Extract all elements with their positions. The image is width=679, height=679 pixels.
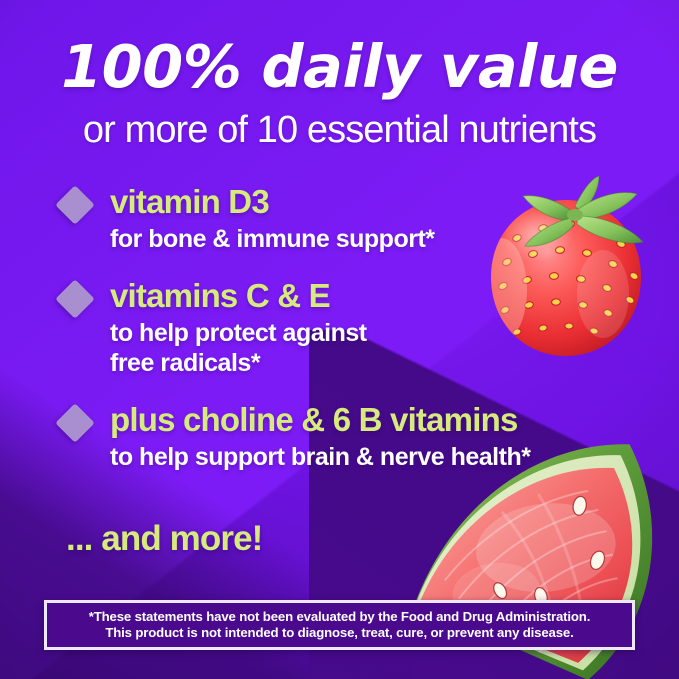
promo-banner: 100% daily value or more of 10 essential… (0, 0, 679, 679)
nutrient-title: plus choline & 6 B vitamins (110, 400, 658, 440)
disclaimer-box: *These statements have not been evaluate… (44, 600, 635, 650)
subheadline: or more of 10 essential nutrients (0, 106, 679, 154)
headline: 100% daily value (0, 36, 679, 98)
disclaimer-line-1: *These statements have not been evaluate… (89, 609, 590, 626)
diamond-bullet-icon (55, 185, 95, 225)
disclaimer-text: *These statements have not been evaluate… (83, 609, 596, 642)
disclaimer-line-2: This product is not intended to diagnose… (89, 625, 590, 642)
strawberry-image (465, 172, 670, 362)
diamond-bullet-icon (55, 403, 95, 443)
diamond-bullet-icon (55, 279, 95, 319)
and-more-text: ... and more! (66, 518, 262, 560)
